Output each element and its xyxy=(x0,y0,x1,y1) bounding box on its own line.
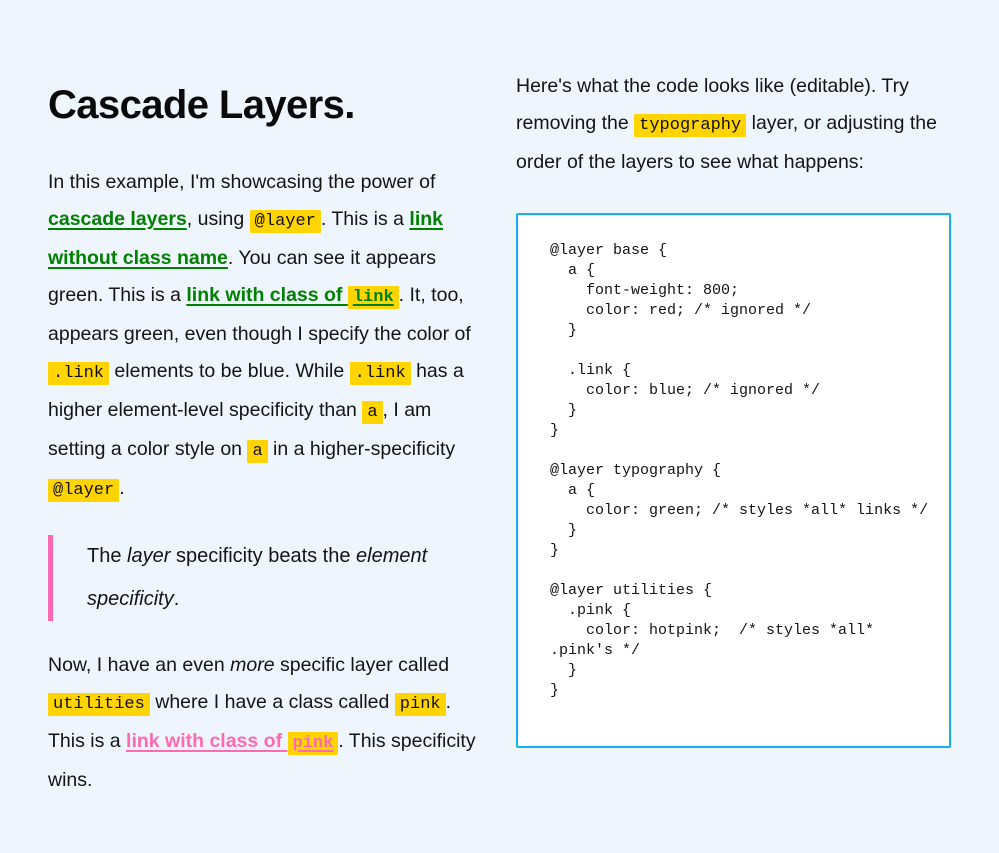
pull-quote: The layer specificity beats the element … xyxy=(48,535,478,621)
page-root: Cascade Layers. In this example, I'm sho… xyxy=(0,0,999,853)
emphasis-layer: layer xyxy=(127,545,170,567)
code-editor-panel[interactable]: @layer base { a { font-weight: 800; colo… xyxy=(516,213,951,748)
text-fragment: in a higher-specificity xyxy=(268,438,456,460)
link-with-class-of-link[interactable]: link with class of link xyxy=(186,284,398,306)
text-fragment: elements to be blue. While xyxy=(109,360,350,382)
code-editor-content[interactable]: @layer base { a { font-weight: 800; colo… xyxy=(550,241,931,701)
code-typography: typography xyxy=(634,114,746,137)
code-atlayer: @layer xyxy=(48,479,119,502)
text-fragment: . This is a xyxy=(321,208,410,230)
text-fragment: . xyxy=(174,588,180,610)
text-fragment: specific layer called xyxy=(275,654,450,676)
code-a-selector: a xyxy=(362,401,382,424)
code-pink-class: pink xyxy=(288,732,339,755)
code-dot-link: .link xyxy=(48,362,109,385)
code-a-selector: a xyxy=(247,440,267,463)
text-fragment: Now, I have an even xyxy=(48,654,230,676)
text-fragment: where I have a class called xyxy=(150,691,395,713)
emphasis-more: more xyxy=(230,654,274,676)
text-fragment: In this example, I'm showcasing the powe… xyxy=(48,171,435,193)
page-title: Cascade Layers. xyxy=(48,84,478,126)
utilities-paragraph: Now, I have an even more specific layer … xyxy=(48,647,478,799)
text-fragment: The xyxy=(87,545,127,567)
right-column: Here's what the code looks like (editabl… xyxy=(516,68,951,748)
code-atlayer: @layer xyxy=(250,210,321,233)
intro-paragraph: In this example, I'm showcasing the powe… xyxy=(48,164,478,509)
code-link-class: link xyxy=(348,286,399,309)
link-label: link with class of xyxy=(126,730,287,752)
text-fragment: , using xyxy=(187,208,250,230)
editor-intro-text: Here's what the code looks like (editabl… xyxy=(516,68,951,181)
link-cascade-layers[interactable]: cascade layers xyxy=(48,208,187,230)
link-label: link with class of xyxy=(186,284,347,306)
code-dot-link: .link xyxy=(350,362,411,385)
left-column: Cascade Layers. In this example, I'm sho… xyxy=(48,84,478,799)
text-fragment: . xyxy=(119,477,124,499)
pull-quote-text: The layer specificity beats the element … xyxy=(87,535,478,621)
text-fragment: specificity beats the xyxy=(170,545,356,567)
code-utilities: utilities xyxy=(48,693,150,716)
code-pink-class: pink xyxy=(395,693,446,716)
link-with-class-of-pink[interactable]: link with class of pink xyxy=(126,730,338,752)
